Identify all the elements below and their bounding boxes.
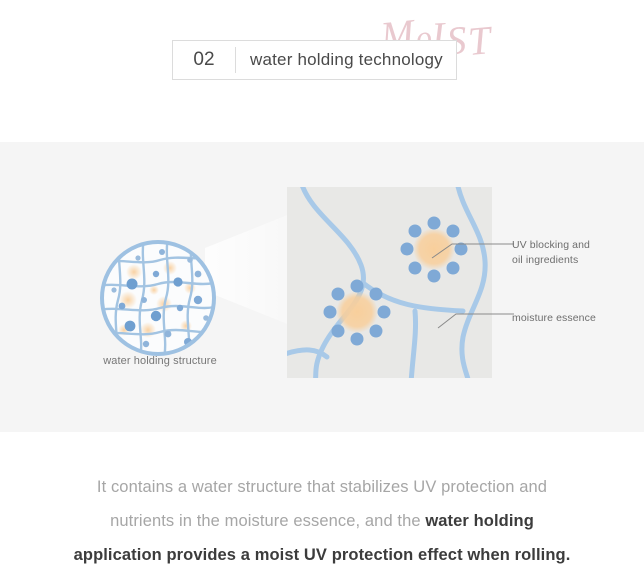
description-line-1: It contains a water structure that stabi… bbox=[0, 470, 644, 504]
product-info-page: MoIST 02 water holding technology bbox=[0, 0, 644, 575]
leader-line-essence bbox=[436, 308, 516, 330]
magnification-beam bbox=[205, 212, 295, 327]
label-essence-line1: moisture essence bbox=[512, 311, 596, 326]
section-title-box: 02 water holding technology bbox=[172, 40, 457, 80]
label-uv-line2: oil ingredients bbox=[512, 253, 590, 268]
section-title: water holding technology bbox=[236, 50, 443, 70]
section-number: 02 bbox=[173, 49, 235, 71]
circle-caption: water holding structure bbox=[60, 355, 260, 367]
uv-oil-particle-cluster-2 bbox=[324, 280, 391, 346]
label-moisture-essence: moisture essence bbox=[512, 311, 596, 326]
label-uv-line1: UV blocking and bbox=[512, 238, 590, 253]
description-paragraph: It contains a water structure that stabi… bbox=[0, 470, 644, 572]
header-section: MoIST 02 water holding technology bbox=[0, 0, 644, 142]
description-line-2-bold: water holding bbox=[425, 512, 534, 530]
description-line-2: nutrients in the moisture essence, and t… bbox=[0, 504, 644, 538]
magnified-panel bbox=[287, 187, 492, 378]
water-holding-structure-diagram bbox=[98, 238, 218, 358]
label-uv-blocking: UV blocking and oil ingredients bbox=[512, 238, 590, 268]
description-line-3: application provides a moist UV protecti… bbox=[0, 538, 644, 572]
leader-line-uv bbox=[430, 236, 516, 260]
description-line-2-normal: nutrients in the moisture essence, and t… bbox=[110, 512, 425, 530]
